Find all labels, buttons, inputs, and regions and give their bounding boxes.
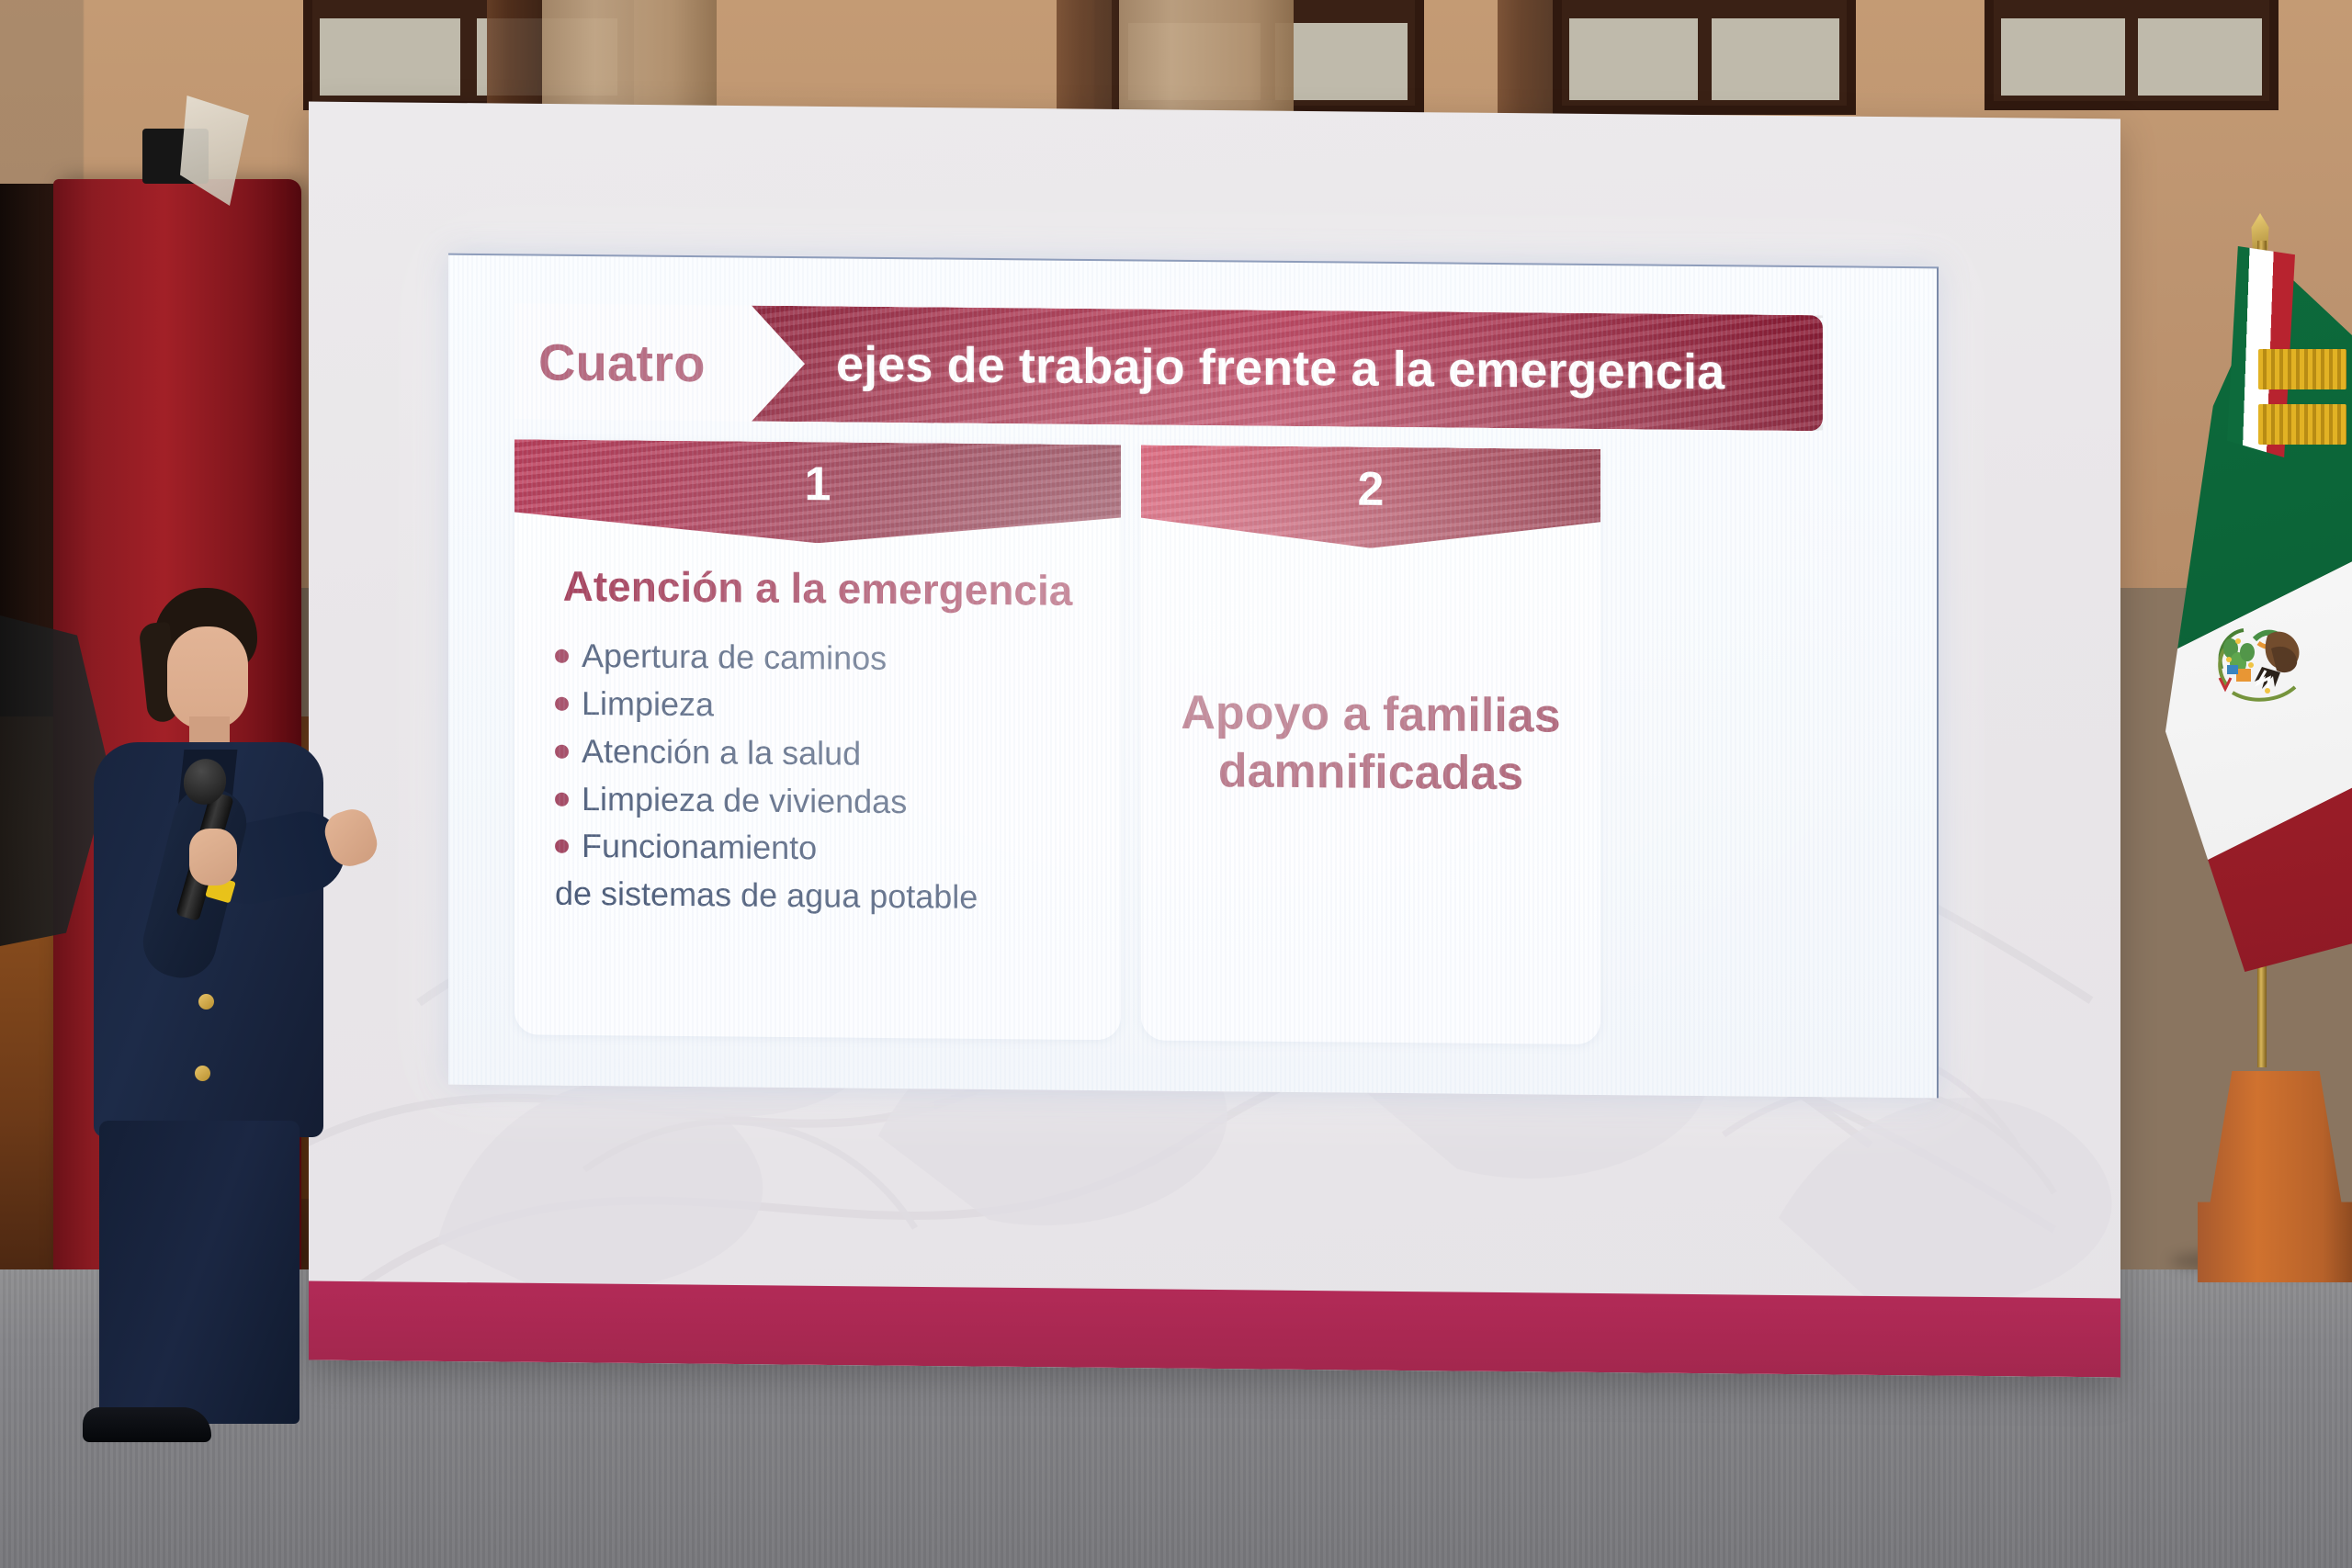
card-2: 2 Apoyo a familias damnificadas — [1141, 445, 1600, 1044]
title-text: ejes de trabajo frente a la emergencia — [836, 335, 1724, 400]
window — [1553, 0, 1856, 115]
window-pane — [1275, 23, 1408, 100]
projection-screen: Cuatro ejes de trabajo frente a la emerg… — [448, 254, 1939, 1099]
speaker-at-podium — [55, 588, 367, 1442]
bullet-text: Apertura de caminos — [582, 635, 887, 681]
title-lead-word: Cuatro — [538, 332, 706, 393]
list-item: Apertura de caminos — [555, 635, 1121, 682]
bullet-dot-icon — [555, 840, 569, 853]
window-pane — [2138, 18, 2262, 96]
flag-gold-fringe — [2258, 404, 2346, 445]
bullet-dot-icon — [555, 697, 569, 711]
slide-title-banner: Cuatro ejes de trabajo frente a la emerg… — [514, 303, 1823, 431]
title-bar: ejes de trabajo frente a la emergencia — [752, 306, 1823, 432]
card-2-heading: Apoyo a familias damnificadas — [1141, 683, 1600, 804]
window-pane — [1569, 18, 1698, 100]
bullet-text: Limpieza — [582, 682, 714, 727]
bullet-dot-icon — [555, 745, 569, 759]
mexican-coat-of-arms-icon — [2211, 612, 2312, 707]
speaker-left-hand — [189, 829, 237, 886]
cards-row: 1 Atención a la emergencia Apertura de c… — [514, 439, 1600, 1044]
speaker-shoe — [83, 1407, 211, 1442]
card-1-heading: Atención a la emergencia — [514, 560, 1121, 615]
card-1-bullet-list: Apertura de caminos Limpieza Atención a … — [514, 635, 1121, 921]
jacket-button — [198, 994, 214, 1010]
card-1-header: 1 — [514, 439, 1121, 546]
card-1-number: 1 — [805, 457, 831, 512]
list-item: Funcionamiento — [555, 825, 1121, 873]
bullet-text: Limpieza de viviendas — [582, 778, 907, 824]
bullet-text: Funcionamiento — [582, 825, 817, 870]
window-pane — [1712, 18, 1840, 100]
card-2-number: 2 — [1358, 462, 1385, 517]
flag-gold-fringe — [2258, 349, 2346, 389]
window-pane — [2001, 18, 2125, 96]
window-pane — [320, 18, 460, 96]
jacket-button — [195, 1066, 210, 1081]
speaker-face — [167, 626, 248, 729]
card-1: 1 Atención a la emergencia Apertura de c… — [514, 439, 1121, 1040]
card-2-header: 2 — [1141, 445, 1600, 550]
bullet-dot-icon — [555, 649, 569, 663]
bullet-dot-icon — [555, 792, 569, 806]
list-item: Limpieza — [555, 682, 1121, 730]
bullet-text: Atención a la salud — [582, 730, 861, 776]
bullet-continuation-text: de sistemas de agua potable — [555, 873, 1121, 920]
list-item: Atención a la salud — [555, 730, 1121, 778]
speaker-trousers — [99, 1121, 300, 1424]
window — [1984, 0, 2278, 110]
slide-content: Cuatro ejes de trabajo frente a la emerg… — [514, 303, 1874, 1050]
list-item: Limpieza de viviendas — [555, 777, 1121, 825]
title-lead-word-container: Cuatro — [514, 303, 781, 422]
